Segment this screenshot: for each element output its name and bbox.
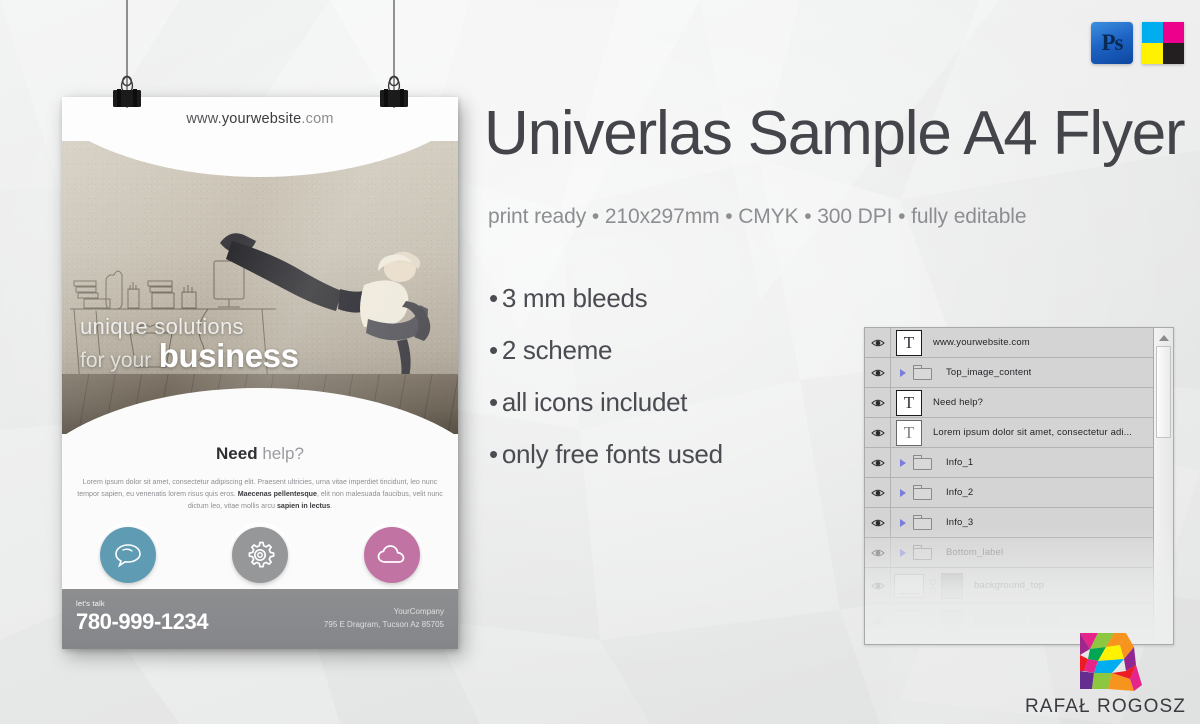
bullet-text: only free fonts used bbox=[502, 439, 723, 469]
expand-triangle-icon[interactable] bbox=[900, 519, 906, 527]
type-T-icon: T bbox=[896, 390, 922, 416]
eye-icon bbox=[871, 398, 885, 408]
layer-visibility-toggle[interactable] bbox=[865, 604, 891, 639]
folder-icon bbox=[913, 365, 932, 380]
scrollbar-thumb[interactable] bbox=[1156, 346, 1171, 438]
lorem-bold-1: Maecenas pellentesque bbox=[238, 490, 317, 498]
layer-visibility-toggle[interactable] bbox=[865, 388, 891, 417]
company-address: 795 E Dragram, Tucson Az 85705 bbox=[324, 618, 444, 631]
bullet-text: 2 scheme bbox=[502, 335, 612, 365]
feature-icon-circle bbox=[364, 527, 420, 583]
folder-icon bbox=[913, 485, 932, 500]
flyer-footer-contact: let's talk 780-999-1234 bbox=[76, 599, 208, 635]
layer-visibility-toggle[interactable] bbox=[865, 418, 891, 447]
page-title: Univerlas Sample A4 Flyer bbox=[484, 98, 1185, 169]
eye-icon bbox=[871, 488, 885, 498]
layer-visibility-toggle[interactable] bbox=[865, 538, 891, 567]
expand-triangle-icon[interactable] bbox=[900, 549, 906, 557]
format-badges: Ps bbox=[1091, 22, 1184, 64]
layer-name: background_top bbox=[974, 580, 1044, 591]
expand-triangle-icon[interactable] bbox=[900, 369, 906, 377]
eye-icon bbox=[871, 338, 885, 348]
layer-row-bottom-label[interactable]: Bottom_label bbox=[865, 538, 1153, 568]
flyer-body: Need help? Lorem ipsum dolor sit amet, c… bbox=[62, 434, 458, 589]
layer-visibility-toggle[interactable] bbox=[865, 358, 891, 387]
hero-line-1: unique solutions bbox=[80, 315, 299, 338]
url-www: www. bbox=[186, 111, 221, 127]
photoshop-layers-panel[interactable]: T www.yourwebsite.com Top_image_content … bbox=[864, 327, 1174, 645]
scroll-up-arrow-icon[interactable] bbox=[1159, 335, 1169, 341]
hanging-clip-right bbox=[372, 0, 416, 108]
flyer-footer-company: YourCompany 795 E Dragram, Tucson Az 857… bbox=[324, 605, 444, 631]
bullet-dot: • bbox=[489, 283, 498, 313]
feature-icon-circle bbox=[232, 527, 288, 583]
layer-name: Lorem ipsum dolor sit amet, consectetur … bbox=[933, 427, 1132, 438]
layer-name: Info_2 bbox=[946, 487, 973, 498]
layers-list: T www.yourwebsite.com Top_image_content … bbox=[865, 328, 1153, 640]
vertical-scrollbar[interactable] bbox=[1153, 328, 1173, 644]
flyer-lorem-paragraph: Lorem ipsum dolor sit amet, consectetur … bbox=[76, 476, 444, 513]
eye-icon bbox=[871, 428, 885, 438]
bullet-item: •2 scheme bbox=[489, 337, 723, 363]
flyer-footer-bar: let's talk 780-999-1234 YourCompany 795 … bbox=[62, 589, 458, 649]
layer-name: www.yourwebsite.com bbox=[933, 337, 1030, 348]
layer-thumbnail bbox=[894, 610, 924, 634]
binder-clip-icon bbox=[372, 74, 416, 108]
folder-icon bbox=[913, 455, 932, 470]
layer-name: background_bottom bbox=[974, 616, 1061, 627]
bullet-text: all icons includet bbox=[502, 387, 687, 417]
layer-row-background-top[interactable]: background_top bbox=[865, 568, 1153, 604]
eye-icon bbox=[871, 458, 885, 468]
cloud-icon bbox=[376, 543, 408, 567]
flyer-website-url: www.yourwebsite.com bbox=[186, 111, 333, 127]
layer-row-lorem-text[interactable]: T Lorem ipsum dolor sit amet, consectetu… bbox=[865, 418, 1153, 448]
hero-headline: unique solutions for your business bbox=[80, 315, 299, 374]
link-mask-icon[interactable] bbox=[929, 578, 937, 594]
flyer-need-help-title: Need help? bbox=[62, 444, 458, 464]
eye-icon bbox=[871, 518, 885, 528]
url-tld: .com bbox=[301, 111, 333, 127]
url-name: yourwebsite bbox=[222, 111, 302, 127]
photoshop-badge-label: Ps bbox=[1102, 30, 1123, 56]
bullet-text: 3 mm bleeds bbox=[502, 283, 648, 313]
bullet-dot: • bbox=[489, 387, 498, 417]
hero-line-2-thin: for your bbox=[80, 349, 151, 372]
layer-name: Top_image_content bbox=[946, 367, 1031, 378]
layer-thumbnail bbox=[894, 574, 924, 598]
layer-visibility-toggle[interactable] bbox=[865, 448, 891, 477]
eye-icon bbox=[871, 548, 885, 558]
hero-line-2-bold: business bbox=[159, 337, 299, 374]
layer-name: Info_3 bbox=[946, 517, 973, 528]
need-help-bold: Need bbox=[216, 444, 258, 463]
rafal-rogosz-logo-icon bbox=[1068, 631, 1142, 693]
phone-number: 780-999-1234 bbox=[76, 609, 208, 635]
layer-name: Bottom_label bbox=[946, 547, 1003, 558]
need-help-light: help? bbox=[262, 444, 304, 463]
layer-row-website-text[interactable]: T www.yourwebsite.com bbox=[865, 328, 1153, 358]
bullet-item: •only free fonts used bbox=[489, 441, 723, 467]
author-signature: RAFAŁ ROGOSZ bbox=[1025, 631, 1186, 718]
feature-icon-circle bbox=[100, 527, 156, 583]
expand-triangle-icon[interactable] bbox=[900, 489, 906, 497]
author-name: RAFAŁ ROGOSZ bbox=[1025, 696, 1186, 718]
folder-icon bbox=[913, 515, 932, 530]
layer-row-info-3[interactable]: Info_3 bbox=[865, 508, 1153, 538]
binder-clip-icon bbox=[105, 74, 149, 108]
layer-visibility-toggle[interactable] bbox=[865, 568, 891, 603]
company-name: YourCompany bbox=[324, 605, 444, 618]
hero-line-2: for your business bbox=[80, 339, 299, 374]
cmyk-cyan bbox=[1142, 22, 1163, 43]
flyer-poster-preview[interactable]: unique solutions for your business www.y… bbox=[62, 97, 458, 649]
expand-triangle-icon[interactable] bbox=[900, 459, 906, 467]
bullet-dot: • bbox=[489, 335, 498, 365]
bullet-item: •3 mm bleeds bbox=[489, 285, 723, 311]
link-mask-icon[interactable] bbox=[929, 614, 937, 630]
flyer-hero-photo: unique solutions for your business bbox=[62, 129, 458, 434]
layer-mask-thumbnail bbox=[941, 573, 963, 599]
feature-bullet-list: •3 mm bleeds •2 scheme •all icons includ… bbox=[489, 285, 723, 493]
folder-icon bbox=[913, 545, 932, 560]
type-T-icon: T bbox=[896, 330, 922, 356]
cmyk-magenta bbox=[1163, 22, 1184, 43]
cmyk-key bbox=[1163, 43, 1184, 64]
layer-name: Need help? bbox=[933, 397, 983, 408]
layer-visibility-toggle[interactable] bbox=[865, 508, 891, 537]
layer-mask-thumbnail bbox=[941, 609, 963, 635]
eye-icon bbox=[871, 368, 885, 378]
eye-icon bbox=[871, 617, 885, 627]
cmyk-yellow bbox=[1142, 43, 1163, 64]
cmyk-swatch-icon bbox=[1142, 22, 1184, 64]
layer-row-info-2[interactable]: Info_2 bbox=[865, 478, 1153, 508]
hanging-clip-left bbox=[105, 0, 149, 108]
eye-icon bbox=[871, 581, 885, 591]
layer-row-info-1[interactable]: Info_1 bbox=[865, 448, 1153, 478]
bullet-dot: • bbox=[489, 439, 498, 469]
layer-visibility-toggle[interactable] bbox=[865, 478, 891, 507]
lorem-bold-2: sapien in lectus bbox=[277, 502, 330, 510]
page-subtitle: print ready • 210x297mm • CMYK • 300 DPI… bbox=[488, 205, 1026, 229]
layer-row-need-help-text[interactable]: T Need help? bbox=[865, 388, 1153, 418]
lets-talk-label: let's talk bbox=[76, 599, 208, 608]
photoshop-badge-icon: Ps bbox=[1091, 22, 1133, 64]
lorem-part-3: . bbox=[330, 502, 332, 510]
type-T-icon: T bbox=[896, 420, 922, 446]
layer-name: Info_1 bbox=[946, 457, 973, 468]
gear-icon bbox=[244, 539, 276, 571]
speech-bubble-icon bbox=[113, 541, 143, 568]
layer-visibility-toggle[interactable] bbox=[865, 328, 891, 357]
bullet-item: •all icons includet bbox=[489, 389, 723, 415]
layer-row-top-image-content[interactable]: Top_image_content bbox=[865, 358, 1153, 388]
